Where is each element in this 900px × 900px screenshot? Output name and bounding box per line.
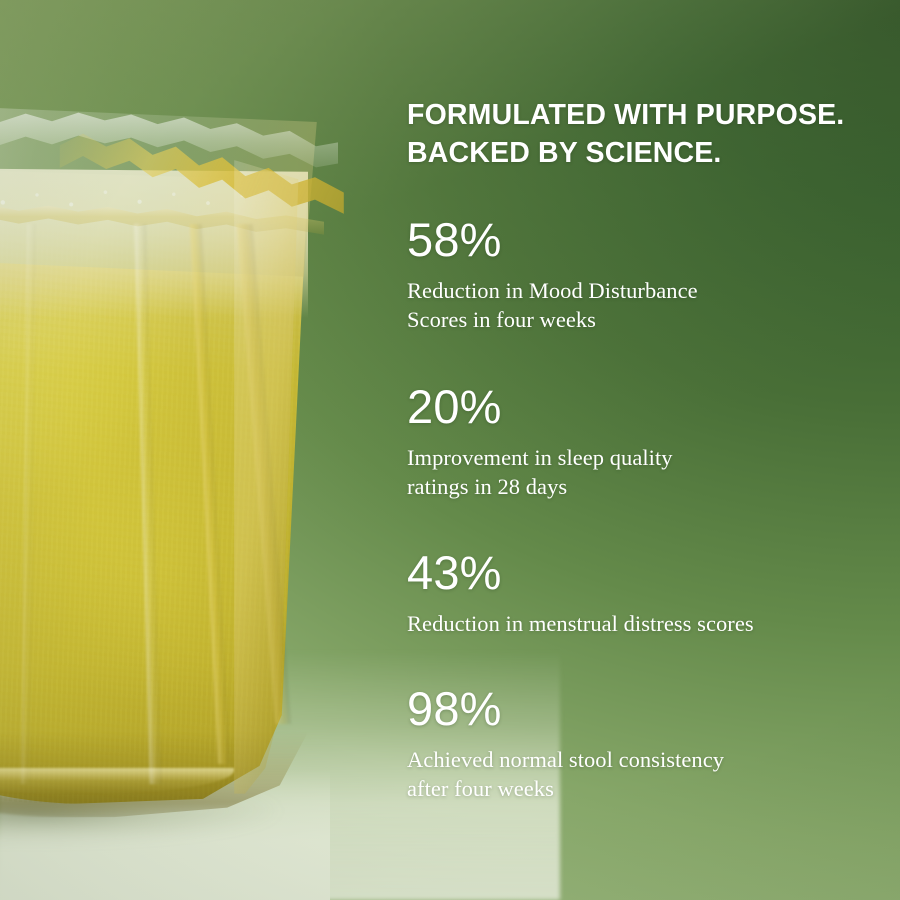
stat-value: 43% bbox=[407, 546, 867, 600]
headline-line-2: BACKED BY SCIENCE. bbox=[407, 134, 867, 172]
stat-value: 58% bbox=[407, 213, 867, 267]
headline: FORMULATED WITH PURPOSE. BACKED BY SCIEN… bbox=[407, 96, 867, 172]
stat-block: 98% Achieved normal stool consistency af… bbox=[407, 682, 867, 803]
stat-description-line: Reduction in menstrual distress scores bbox=[407, 609, 867, 638]
stat-description-line: after four weeks bbox=[407, 774, 867, 803]
stat-description-line: Improvement in sleep quality bbox=[407, 443, 867, 472]
stat-description: Reduction in menstrual distress scores bbox=[407, 609, 867, 638]
headline-line-1: FORMULATED WITH PURPOSE. bbox=[407, 96, 867, 134]
stat-description-line: Achieved normal stool consistency bbox=[407, 745, 867, 774]
stat-description-line: ratings in 28 days bbox=[407, 472, 867, 501]
stat-description: Achieved normal stool consistency after … bbox=[407, 745, 867, 803]
stat-value: 98% bbox=[407, 682, 867, 736]
stat-block: 20% Improvement in sleep quality ratings… bbox=[407, 380, 867, 501]
stat-block: 43% Reduction in menstrual distress scor… bbox=[407, 546, 867, 638]
stat-description: Improvement in sleep quality ratings in … bbox=[407, 443, 867, 501]
stat-description-line: Scores in four weeks bbox=[407, 305, 867, 334]
marketing-copy-column: FORMULATED WITH PURPOSE. BACKED BY SCIEN… bbox=[407, 0, 877, 900]
stat-description: Reduction in Mood Disturbance Scores in … bbox=[407, 276, 867, 334]
stat-value: 20% bbox=[407, 380, 867, 434]
stat-block: 58% Reduction in Mood Disturbance Scores… bbox=[407, 213, 867, 334]
stat-description-line: Reduction in Mood Disturbance bbox=[407, 276, 867, 305]
promo-canvas: FORMULATED WITH PURPOSE. BACKED BY SCIEN… bbox=[0, 0, 900, 900]
